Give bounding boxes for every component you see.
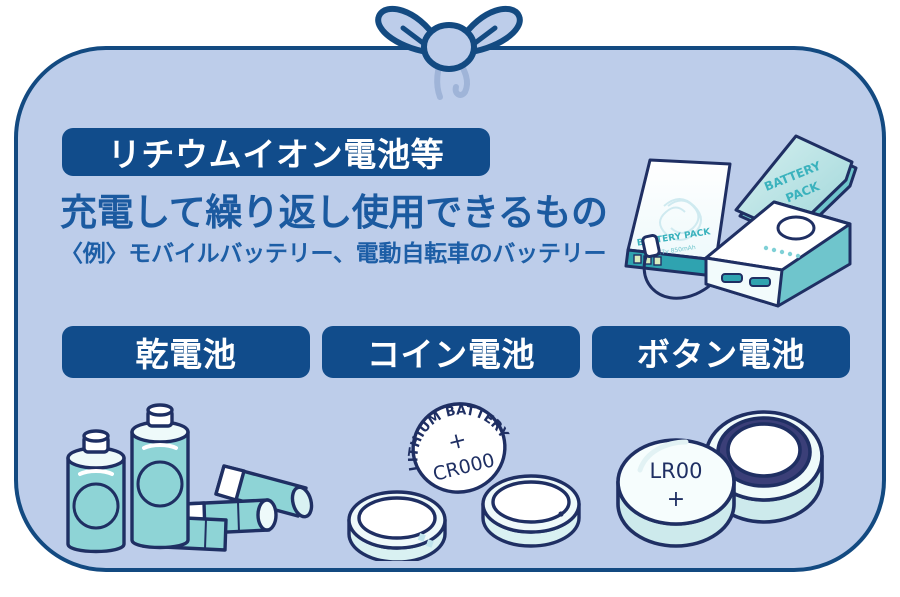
battery-pack-illustration: BATTERY PACK BATTERY PACK — [618, 128, 874, 318]
category-pill-coin: コイン電池 — [322, 326, 580, 378]
subline-text: 〈例〉モバイルバッテリー、電動自転車のバッテリー — [60, 234, 606, 268]
bow-ribbon — [355, 0, 545, 105]
category-pill-dry: 乾電池 — [62, 326, 310, 378]
category-pill-button: ボタン電池 — [592, 326, 850, 378]
poster-canvas: リチウムイオン電池等 充電して繰り返し使用できるもの 〈例〉モバイルバッテリー、… — [0, 0, 900, 597]
main-card: リチウムイオン電池等 充電して繰り返し使用できるもの 〈例〉モバイルバッテリー、… — [14, 46, 886, 572]
headline-text: 充電して繰り返し使用できるもの — [60, 182, 608, 236]
button-cell-polarity: + — [667, 487, 685, 512]
title-pill: リチウムイオン電池等 — [62, 128, 490, 176]
button-cell-illustration: LR00 + — [610, 390, 825, 550]
button-cell-model: LR00 — [649, 459, 702, 483]
dry-cell-illustration — [48, 388, 328, 563]
coin-cell-illustration: LITHIUM BATTERY + CR000 — [333, 386, 583, 561]
